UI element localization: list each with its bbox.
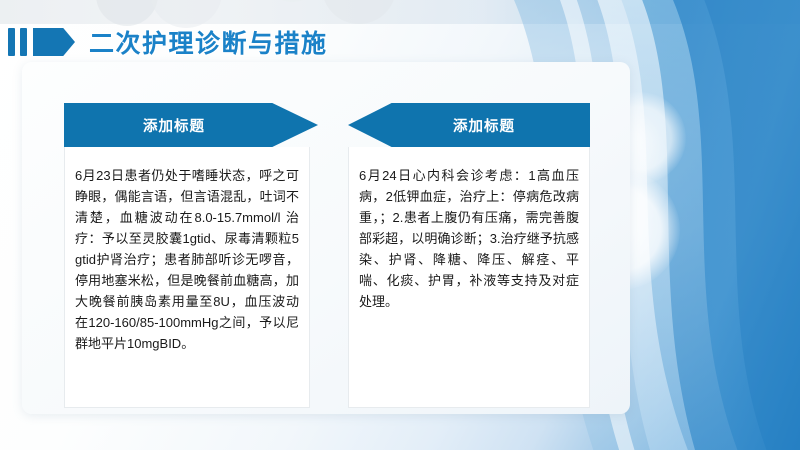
page-title: 二次护理诊断与措施 xyxy=(89,24,328,60)
card-right-header-label: 添加标题 xyxy=(453,115,515,136)
title-bar-icon xyxy=(8,28,15,56)
card-right-header[interactable]: 添加标题 xyxy=(348,103,590,147)
card-left-header-label: 添加标题 xyxy=(143,115,205,136)
title-marker-group xyxy=(8,28,75,56)
card-left-body: 6月23日患者仍处于嗜睡状态，呼之可睁眼，偶能言语，但言语混乱，吐词不清楚，血糖… xyxy=(64,147,310,408)
slide-root: 二次护理诊断与措施 添加标题 6月23日患者仍处于嗜睡状态，呼之可睁眼，偶能言语… xyxy=(0,0,800,450)
card-right-body: 6月24日心内科会诊考虑：1高血压病，2低钾血症，治疗上：停病危改病重，；2.患… xyxy=(348,147,590,408)
card-left: 添加标题 6月23日患者仍处于嗜睡状态，呼之可睁眼，偶能言语，但言语混乱，吐词不… xyxy=(64,103,318,408)
card-right-text: 6月24日心内科会诊考虑：1高血压病，2低钾血症，治疗上：停病危改病重，；2.患… xyxy=(349,147,589,312)
card-left-text: 6月23日患者仍处于嗜睡状态，呼之可睁眼，偶能言语，但言语混乱，吐词不清楚，血糖… xyxy=(65,147,309,354)
arrow-right-icon xyxy=(33,28,75,56)
card-left-header[interactable]: 添加标题 xyxy=(64,103,318,147)
card-right: 添加标题 6月24日心内科会诊考虑：1高血压病，2低钾血症，治疗上：停病危改病重… xyxy=(348,103,590,408)
title-bar-icon xyxy=(20,28,27,56)
slide-title-row: 二次护理诊断与措施 xyxy=(8,25,328,59)
